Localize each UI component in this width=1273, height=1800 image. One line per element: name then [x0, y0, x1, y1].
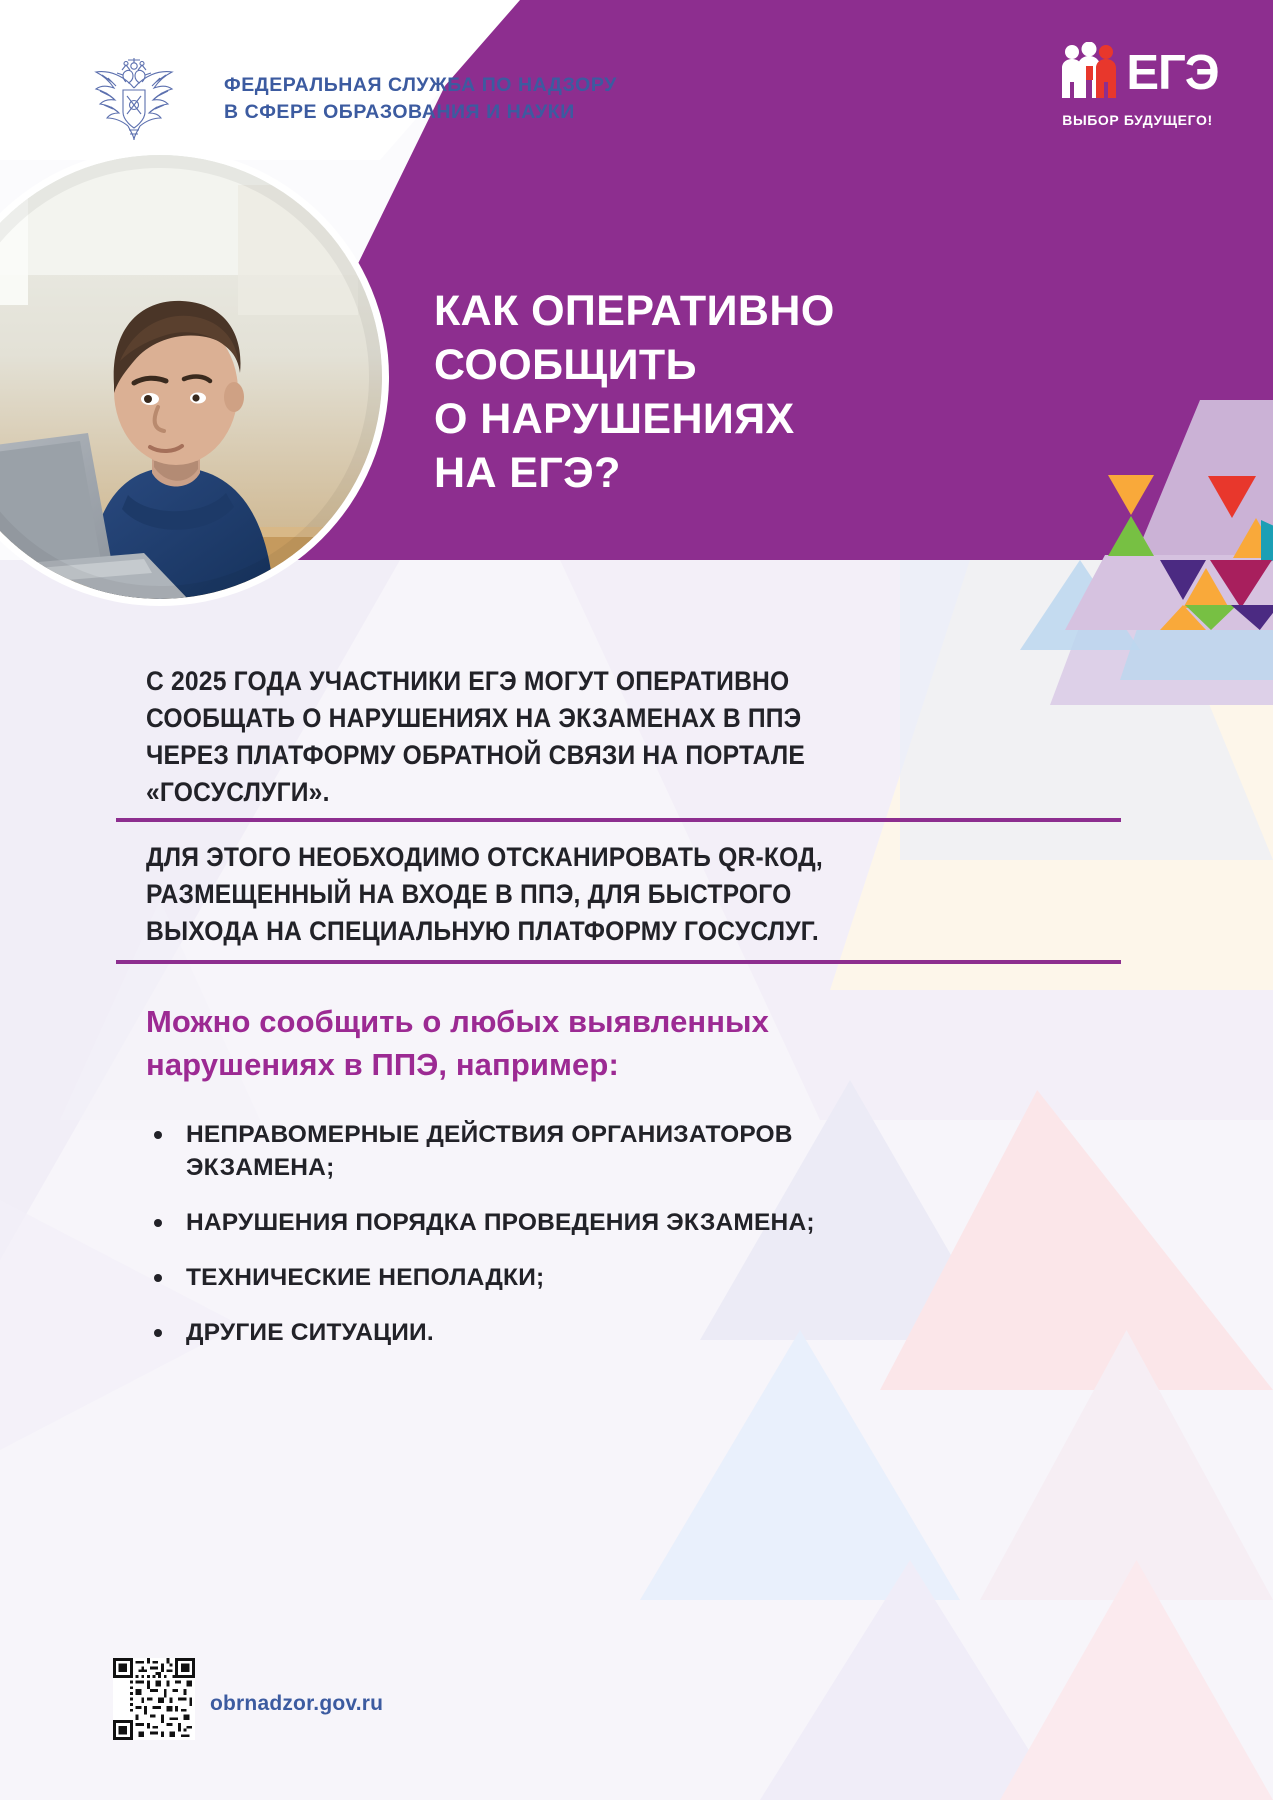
student-at-laptop-photo	[0, 155, 382, 599]
intro-paragraph: С 2025 ГОДА УЧАСТНИКИ ЕГЭ МОГУТ ОПЕРАТИВ…	[146, 663, 881, 811]
ege-wordmark: ЕГЭ	[1126, 49, 1218, 98]
list-item: НЕПРАВОМЕРНЫЕ ДЕЙСТВИЯ ОРГАНИЗАТОРОВ ЭКЗ…	[146, 1118, 966, 1184]
organization-name: ФЕДЕРАЛЬНАЯ СЛУЖБА ПО НАДЗОРУ В СФЕРЕ ОБ…	[224, 72, 617, 126]
poster-root: ФЕДЕРАЛЬНАЯ СЛУЖБА ПО НАДЗОРУ В СФЕРЕ ОБ…	[0, 0, 1273, 1800]
ege-logo: ЕГЭ ВЫБОР БУДУЩЕГО!	[1030, 42, 1245, 128]
section-subheading: Можно сообщить о любых выявленных наруше…	[146, 1000, 946, 1086]
qr-instruction-paragraph: ДЛЯ ЭТОГО НЕОБХОДИМО ОТСКАНИРОВАТЬ QR-КО…	[146, 839, 881, 950]
list-item: ТЕХНИЧЕСКИЕ НЕПОЛАДКИ;	[146, 1261, 966, 1294]
triangle-mosaic-decoration	[955, 400, 1273, 630]
list-item: ДРУГИЕ СИТУАЦИИ.	[146, 1316, 966, 1349]
divider-2	[116, 960, 1121, 964]
violation-types-list: НЕПРАВОМЕРНЫЕ ДЕЙСТВИЯ ОРГАНИЗАТОРОВ ЭКЗ…	[146, 1118, 966, 1371]
ege-tagline: ВЫБОР БУДУЩЕГО!	[1030, 112, 1245, 128]
website-link[interactable]: obrnadzor.gov.ru	[210, 1692, 383, 1716]
ege-people-icon	[1056, 42, 1120, 104]
page-title: КАК ОПЕРАТИВНО СООБЩИТЬ О НАРУШЕНИЯХ НА …	[434, 284, 835, 500]
qr-code-icon[interactable]	[113, 1658, 195, 1740]
divider-1	[116, 818, 1121, 822]
list-item: НАРУШЕНИЯ ПОРЯДКА ПРОВЕДЕНИЯ ЭКЗАМЕНА;	[146, 1206, 966, 1239]
russian-coat-of-arms-icon	[88, 58, 180, 140]
